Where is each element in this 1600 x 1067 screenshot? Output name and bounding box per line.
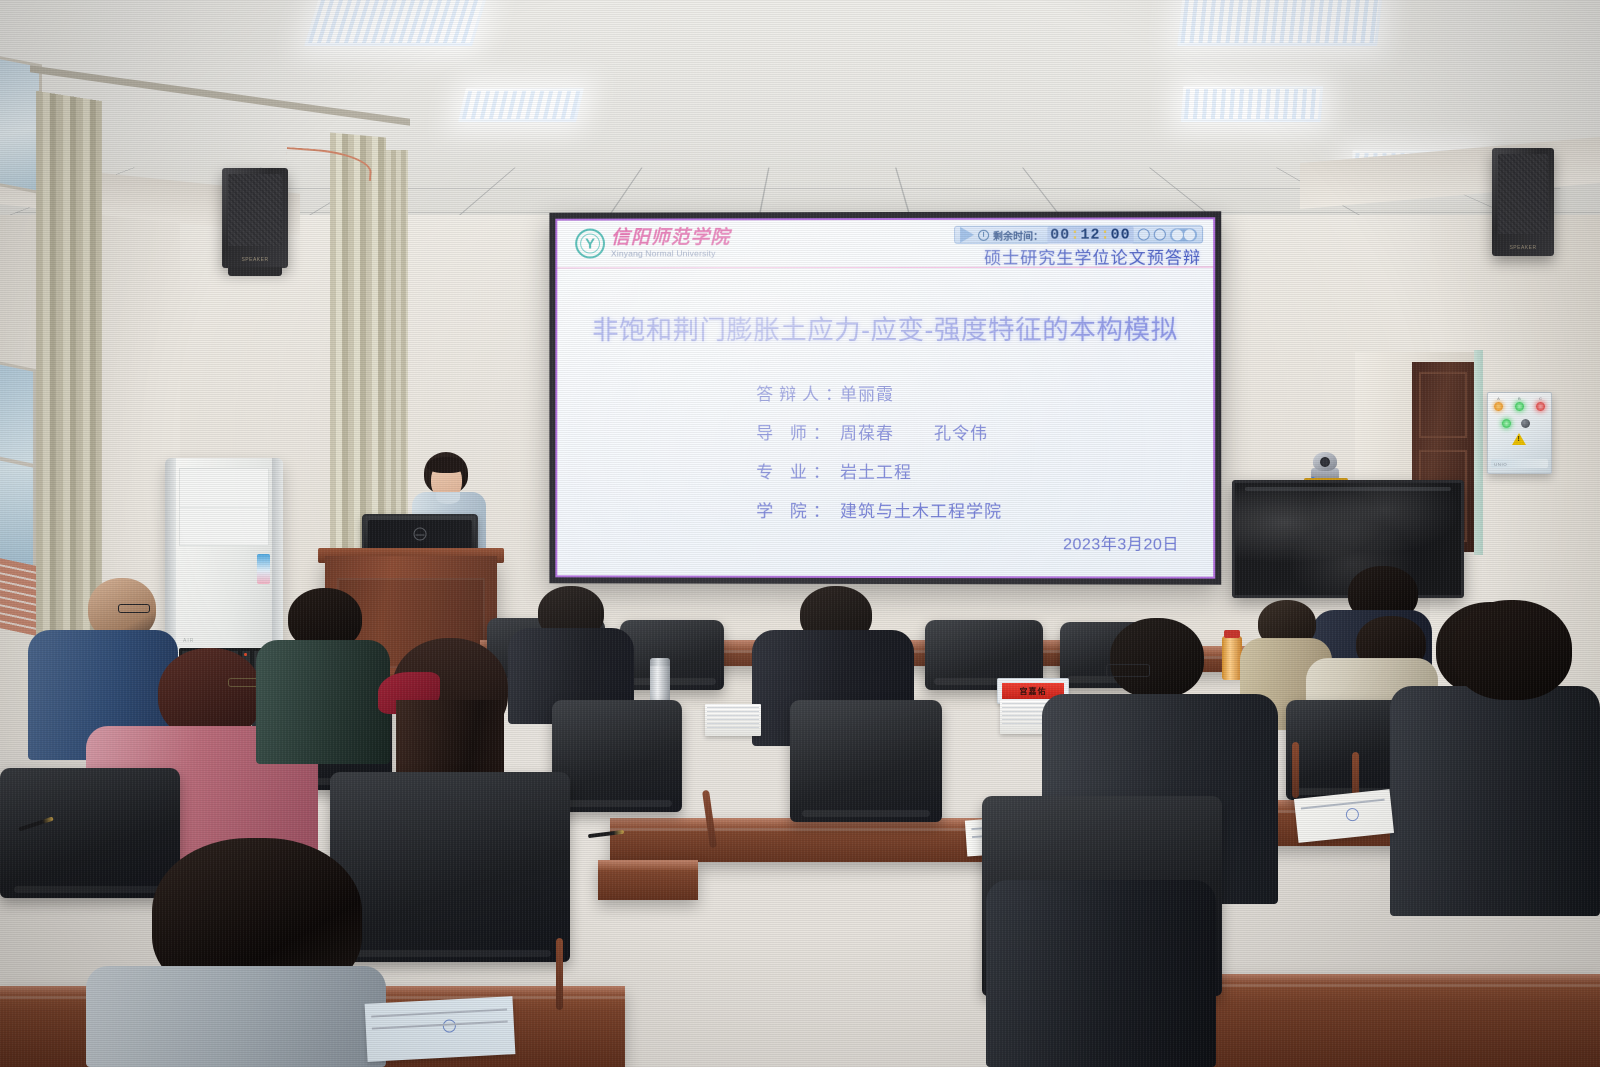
presenter-collar bbox=[436, 492, 460, 504]
slide-row-key: 导 师： bbox=[756, 419, 840, 444]
slide-row-key: 专 业： bbox=[756, 458, 840, 483]
sheet-line bbox=[371, 1008, 507, 1017]
ceiling-light-panel bbox=[1181, 86, 1324, 122]
timer-value: 00:12:00 bbox=[1047, 226, 1133, 243]
wall-display[interactable] bbox=[1232, 480, 1464, 598]
warning-triangle-icon bbox=[1512, 433, 1526, 445]
eyeglasses bbox=[118, 604, 150, 613]
timer-label: 剩余时间： bbox=[993, 227, 1043, 242]
ceiling-light-panel bbox=[1177, 0, 1383, 46]
timer-seconds: 00 bbox=[1111, 226, 1131, 243]
eyeglasses bbox=[1106, 664, 1150, 677]
timer-stepper[interactable] bbox=[1170, 228, 1197, 241]
indicator-led-orange bbox=[1494, 402, 1503, 411]
slide-subtitle: 硕士研究生学位论文预答辩 bbox=[984, 243, 1201, 268]
slide-header: Y 信阳师范学院 Xinyang Normal University 剩余时间：… bbox=[557, 219, 1213, 268]
slide-date: 2023年3月20日 bbox=[1063, 530, 1179, 554]
timer-reset-icon[interactable] bbox=[1138, 228, 1150, 240]
timer-sep: : bbox=[1100, 226, 1110, 243]
indicator-led-red bbox=[1536, 402, 1545, 411]
window-lower-left bbox=[0, 361, 36, 575]
slide-row: 专 业： 岩土工程 bbox=[756, 458, 1042, 483]
desk-surface bbox=[598, 860, 698, 870]
printed-sheet[interactable] bbox=[365, 996, 516, 1062]
slide-detail-rows: 答辩人： 单丽霞 导 师： 周葆春 孔令伟 专 业： 岩土工程 学 院： 建筑与… bbox=[756, 380, 1042, 522]
university-logo: Y 信阳师范学院 Xinyang Normal University bbox=[575, 228, 730, 258]
countdown-timer-widget[interactable]: 剩余时间： 00:12:00 bbox=[954, 225, 1203, 244]
timer-sep: : bbox=[1070, 226, 1080, 243]
indicator-led-green bbox=[1515, 402, 1524, 411]
curtain-center bbox=[330, 133, 386, 568]
steel-thermos[interactable] bbox=[650, 658, 670, 704]
timer-play-icon[interactable] bbox=[1154, 228, 1166, 240]
speaker-brand-badge: SPEAKER bbox=[1509, 245, 1536, 251]
sheet-line bbox=[372, 1020, 508, 1029]
bound-documents[interactable] bbox=[705, 704, 761, 736]
university-name-cn: 信阳师范学院 bbox=[611, 229, 730, 248]
camera-lens-icon bbox=[1320, 457, 1330, 467]
university-seal-icon: Y bbox=[575, 229, 605, 259]
person-torso bbox=[986, 880, 1216, 1067]
electrical-control-box[interactable]: A B C UNIO bbox=[1487, 392, 1552, 474]
slide-row-value: 岩土工程 bbox=[840, 458, 912, 483]
seal-glyph: Y bbox=[585, 236, 595, 251]
office-chair[interactable] bbox=[620, 620, 724, 690]
slide-row: 导 师： 周葆春 孔令伟 bbox=[756, 419, 1042, 444]
slide-row-key: 答辩人： bbox=[756, 380, 840, 405]
wall-speaker-right: SPEAKER bbox=[1492, 148, 1554, 256]
slide-row-key: 学 院： bbox=[756, 497, 840, 522]
timer-flag-icon bbox=[960, 227, 974, 243]
drink-bottle[interactable] bbox=[1222, 636, 1242, 680]
slide-row: 答辩人： 单丽霞 bbox=[756, 380, 1042, 405]
slide-row-value: 周葆春 bbox=[840, 419, 894, 444]
bottle-cap bbox=[1224, 630, 1240, 638]
presenter-fringe bbox=[427, 457, 466, 473]
slide-row: 学 院： 建筑与土木工程学院 bbox=[756, 497, 1042, 522]
timer-minutes: 12 bbox=[1080, 226, 1100, 243]
control-label: B bbox=[1518, 396, 1521, 401]
slide-row-value: 建筑与土木工程学院 bbox=[840, 497, 1002, 522]
presentation-slide: Y 信阳师范学院 Xinyang Normal University 剩余时间：… bbox=[555, 217, 1215, 578]
speaker-brand-badge: SPEAKER bbox=[241, 257, 268, 263]
chevron-down-icon[interactable] bbox=[1172, 229, 1183, 240]
office-chair[interactable] bbox=[1286, 700, 1406, 800]
control-box-brand: UNIO bbox=[1494, 462, 1507, 467]
chair-armrest bbox=[556, 938, 563, 1010]
door-jamb bbox=[1474, 350, 1483, 555]
ac-brand-tag: AIR bbox=[183, 638, 194, 644]
curtain-left bbox=[36, 91, 102, 661]
wall-speaker-left: SPEAKER bbox=[222, 168, 288, 268]
office-chair[interactable] bbox=[790, 700, 942, 822]
document-seal bbox=[442, 1019, 456, 1033]
brick-wall-outside bbox=[0, 558, 36, 636]
chair-armrest bbox=[1292, 742, 1299, 798]
person-torso bbox=[86, 966, 386, 1067]
indicator-led-green-secondary bbox=[1502, 419, 1511, 428]
ac-energy-label bbox=[257, 554, 270, 584]
timer-hours: 00 bbox=[1050, 226, 1070, 243]
office-chair[interactable] bbox=[552, 700, 682, 812]
ceiling-light-panel bbox=[458, 88, 584, 122]
office-chair[interactable] bbox=[330, 772, 570, 962]
office-chair[interactable] bbox=[0, 768, 180, 898]
document-seal bbox=[1345, 807, 1359, 821]
chevron-up-icon[interactable] bbox=[1184, 229, 1195, 240]
slide-row-value: 单丽霞 bbox=[840, 380, 894, 405]
clock-icon bbox=[978, 229, 989, 240]
control-label: C bbox=[1539, 396, 1542, 401]
thermos-cap bbox=[650, 658, 670, 666]
desk-row-front-center bbox=[598, 860, 698, 900]
ac-intake-grille bbox=[179, 468, 269, 546]
person-torso bbox=[256, 640, 390, 764]
rotary-knob[interactable] bbox=[1521, 419, 1530, 428]
sheet-line bbox=[1301, 799, 1385, 809]
person-head bbox=[1110, 618, 1204, 698]
projection-screen: Y 信阳师范学院 Xinyang Normal University 剩余时间：… bbox=[549, 211, 1221, 584]
person-torso bbox=[1390, 686, 1600, 916]
control-label: A bbox=[1497, 396, 1500, 401]
display-reflection bbox=[1235, 483, 1461, 595]
person-head bbox=[1452, 600, 1572, 700]
curtain-center-fold bbox=[386, 150, 408, 550]
ac-power-led bbox=[244, 653, 247, 656]
ceiling-light-panel bbox=[304, 0, 488, 46]
nameplate-text: 宫嘉佑 bbox=[1020, 686, 1047, 697]
laptop-logo-icon bbox=[414, 528, 427, 541]
slide-title: 非饱和荆门膨胀土应力-应变-强度特征的本构模拟 bbox=[557, 308, 1213, 348]
classroom-photo: SPEAKER SPEAKER Y 信阳师范学院 Xinyang Normal … bbox=[0, 0, 1600, 1067]
slide-row-value-2: 孔令伟 bbox=[934, 419, 988, 444]
university-name-en: Xinyang Normal University bbox=[611, 250, 730, 259]
